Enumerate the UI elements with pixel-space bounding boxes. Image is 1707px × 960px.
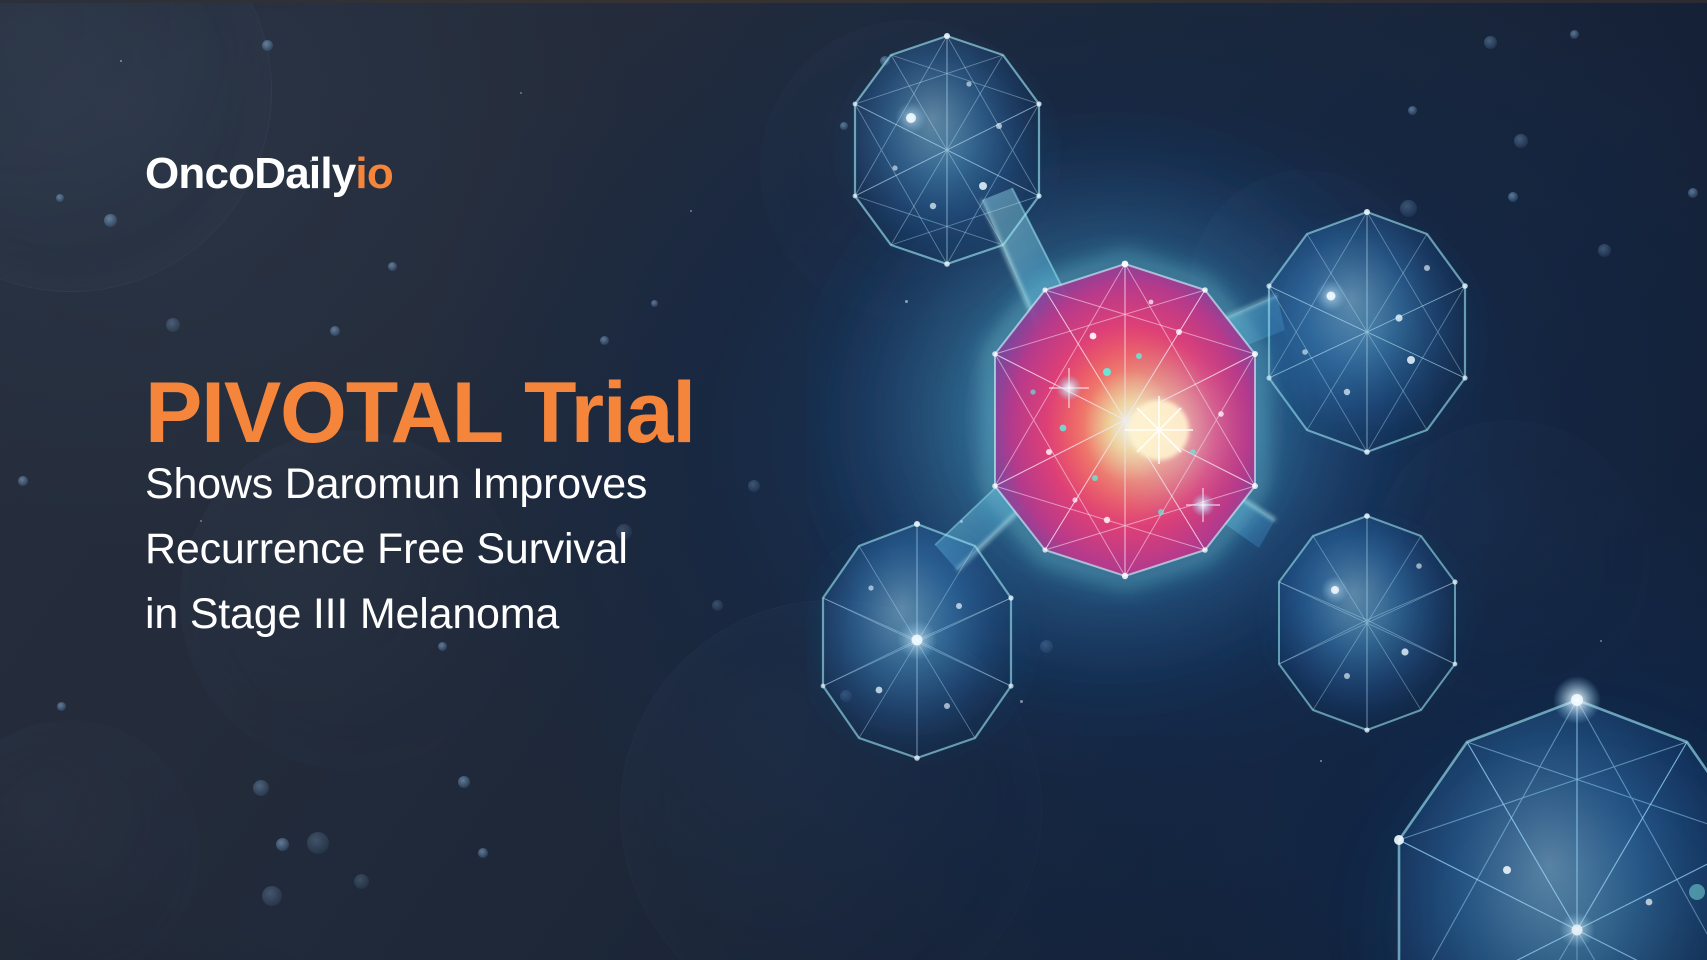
bokeh-particle (1040, 640, 1053, 653)
subtitle: Shows Daromun Improves Recurrence Free S… (145, 452, 647, 647)
subtitle-line-3: in Stage III Melanoma (145, 582, 647, 647)
bokeh-particle (1400, 200, 1417, 217)
top-edge-line (0, 0, 1707, 3)
star-particle (1320, 760, 1322, 762)
bokeh-particle (880, 56, 890, 66)
page-title: PIVOTAL Trial (145, 370, 695, 456)
bokeh-particle (1598, 244, 1611, 257)
bokeh-particle (1688, 188, 1698, 198)
bokeh-particle (1508, 192, 1518, 202)
bokeh-particle (56, 194, 64, 202)
bokeh-particle (1484, 36, 1497, 49)
bokeh-particle (57, 702, 66, 711)
ghost-sphere-upper-right (1190, 170, 1420, 400)
subtitle-line-2: Recurrence Free Survival (145, 517, 647, 582)
bokeh-particle (1570, 30, 1579, 39)
star-particle (1600, 640, 1602, 642)
bokeh-particle (1408, 106, 1417, 115)
brand-name: OncoDaily (145, 149, 355, 198)
ghost-sphere-right-mid (1370, 420, 1650, 700)
bokeh-particle (18, 476, 28, 486)
star-particle (1020, 700, 1023, 703)
star-particle (905, 300, 908, 303)
banner-canvas: OncoDailyio PIVOTAL Trial Shows Daromun … (0, 0, 1707, 960)
brand-logo[interactable]: OncoDailyio (145, 152, 393, 196)
star-particle (120, 60, 122, 62)
bokeh-particle (104, 214, 117, 227)
text-column: OncoDailyio PIVOTAL Trial Shows Daromun … (145, 0, 845, 960)
brand-suffix: io (355, 149, 393, 198)
subtitle-line-1: Shows Daromun Improves (145, 452, 647, 517)
bokeh-particle (1514, 134, 1528, 148)
star-particle (960, 520, 963, 523)
